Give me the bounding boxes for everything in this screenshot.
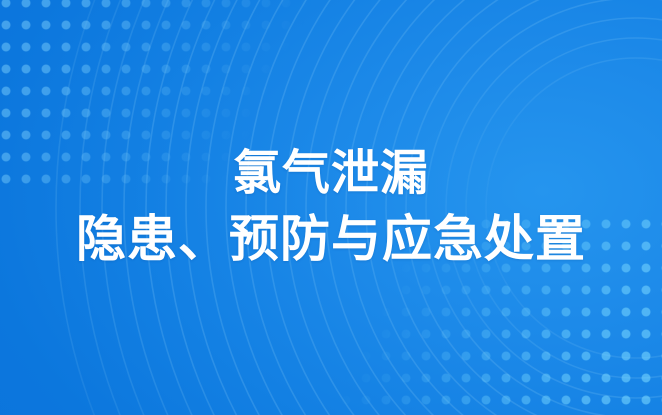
title-line-primary: 氯气泄漏 [233, 142, 429, 206]
title-block: 氯气泄漏 隐患、预防与应急处置 [0, 0, 662, 415]
banner-graphic: 氯气泄漏 隐患、预防与应急处置 [0, 0, 662, 415]
title-line-secondary: 隐患、预防与应急处置 [76, 206, 586, 273]
